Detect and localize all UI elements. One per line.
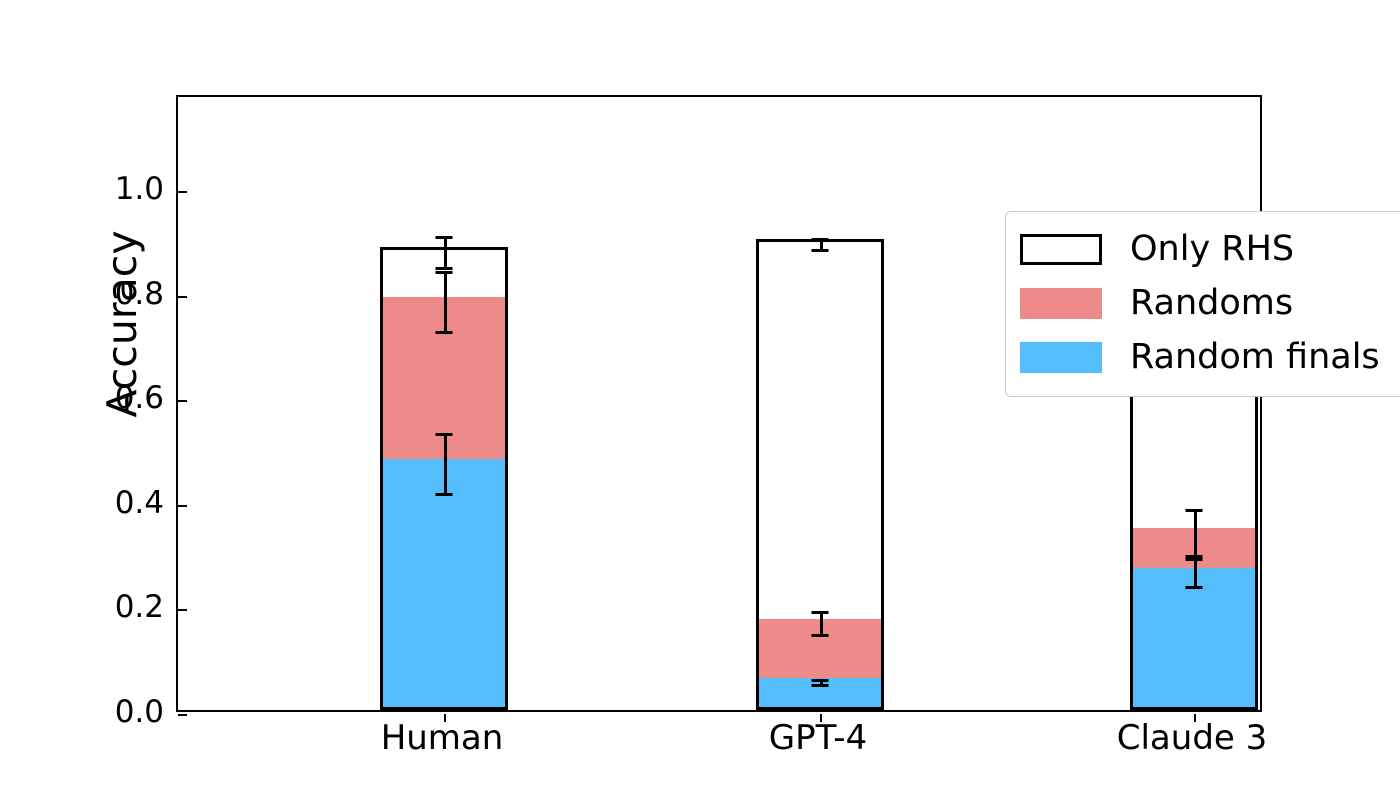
- error-bar-cap: [812, 611, 829, 614]
- legend-swatch-outline-white: [1020, 234, 1102, 265]
- y-tick-label: 0.6: [84, 380, 164, 416]
- legend-label: Randoms: [1130, 286, 1293, 321]
- bar-group-human[interactable]: [380, 93, 508, 710]
- error-bar-cap: [436, 493, 453, 496]
- x-tick-label: Claude 3: [1117, 718, 1268, 758]
- y-tick-mark: [178, 714, 187, 716]
- bar-outline-edge: [756, 239, 884, 710]
- error-bar: [1194, 558, 1197, 586]
- error-bar-cap: [436, 331, 453, 334]
- chart-legend: Only RHSRandomsRandom finals: [1005, 211, 1400, 397]
- error-bar: [444, 236, 447, 267]
- plot-area: Only RHSRandomsRandom finals: [176, 95, 1262, 712]
- error-bar-cap: [436, 433, 453, 436]
- y-tick-label: 0.4: [84, 485, 164, 521]
- x-tick-label: Human: [381, 718, 504, 758]
- y-tick-mark: [178, 296, 187, 298]
- error-bar-cap: [812, 238, 829, 241]
- error-bar-cap: [812, 634, 829, 637]
- legend-rows: Only RHSRandomsRandom finals: [1020, 222, 1400, 384]
- legend-item[interactable]: Only RHS: [1020, 222, 1400, 276]
- error-bar-cap: [436, 271, 453, 274]
- error-bar: [820, 611, 823, 634]
- legend-swatch-blue: [1020, 342, 1102, 373]
- legend-item[interactable]: Randoms: [1020, 276, 1400, 330]
- y-tick-mark: [178, 505, 187, 507]
- x-tick-label: GPT-4: [769, 718, 867, 758]
- y-tick-label: 1.0: [84, 171, 164, 207]
- error-bar-cap: [812, 684, 829, 687]
- error-bar: [444, 271, 447, 332]
- y-tick-label: 0.8: [84, 276, 164, 312]
- error-bar-cap: [1186, 586, 1203, 589]
- error-bar-cap: [1186, 509, 1203, 512]
- y-tick-mark: [178, 400, 187, 402]
- legend-label: Random finals: [1130, 340, 1380, 375]
- error-bar-cap: [436, 236, 453, 239]
- bar-group-claude-3[interactable]: [1130, 93, 1258, 710]
- y-tick-mark: [178, 191, 187, 193]
- y-tick-label: 0.2: [84, 589, 164, 625]
- error-bar-cap: [1186, 558, 1203, 561]
- error-bar: [1194, 509, 1197, 555]
- y-tick-mark: [178, 609, 187, 611]
- error-bar-cap: [812, 679, 829, 682]
- error-bar: [444, 433, 447, 494]
- legend-label: Only RHS: [1130, 232, 1294, 267]
- chart-figure: Accuracy Only RHSRandomsRandom finals 0.…: [0, 0, 1400, 800]
- legend-item[interactable]: Random finals: [1020, 330, 1400, 384]
- legend-swatch-salmon: [1020, 288, 1102, 319]
- y-tick-label: 0.0: [84, 694, 164, 730]
- error-bar-cap: [436, 267, 453, 270]
- error-bar-cap: [812, 249, 829, 252]
